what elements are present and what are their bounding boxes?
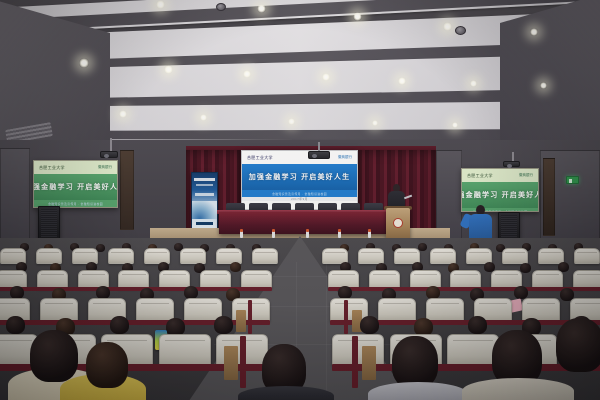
seat-armrest xyxy=(362,346,376,380)
screen-headline: 加强金融学习 开启美好人生 xyxy=(249,172,351,182)
seat[interactable] xyxy=(426,298,464,322)
exit-sign-icon xyxy=(566,176,579,184)
ceiling-light xyxy=(530,28,538,36)
ceiling-light xyxy=(452,122,458,128)
seat-armrest xyxy=(236,310,246,332)
screen-headline-band: 加强金融学习 开启美好人生 xyxy=(34,174,117,200)
screen-subtitle: 金融知识普及宣传月 · 金融知识进校园 xyxy=(48,202,103,206)
university-logo: 合肥工业大学 xyxy=(467,173,493,179)
audience-head xyxy=(360,316,379,334)
foreground-person-shoulders xyxy=(368,382,468,400)
sponsor-bank-logo: 徽商银行 xyxy=(338,155,352,160)
sponsor-bank-logo: 徽商银行 xyxy=(519,173,533,178)
screen-logo-row: 合肥工业大学 徽商银行 xyxy=(462,169,538,182)
seat[interactable] xyxy=(136,298,174,322)
floor-tile-line xyxy=(326,262,327,400)
ceiling-light xyxy=(398,77,406,85)
podium-emblem-icon xyxy=(393,218,403,228)
ceiling-light xyxy=(156,0,165,9)
wall-panel-right xyxy=(436,150,462,240)
screen-headline-band: 加强金融学习 开启美好人生 xyxy=(242,164,357,190)
ceiling-light xyxy=(372,120,378,126)
ceiling-light xyxy=(243,70,251,78)
audience-head xyxy=(110,316,129,334)
wall-panel-left xyxy=(0,148,30,248)
screen-footer-band: 2017年9月 xyxy=(242,197,357,201)
university-logo: 合肥工业大学 xyxy=(39,165,65,171)
seat[interactable] xyxy=(430,248,456,264)
projector-mount-arm-left xyxy=(110,138,112,152)
seat[interactable] xyxy=(252,248,278,264)
seat[interactable] xyxy=(108,248,134,264)
screen-headline-band: 加强金融学习 开启美好人生 xyxy=(462,182,538,208)
ceiling-speaker-dome xyxy=(216,3,226,11)
banner-line-3 xyxy=(195,193,214,196)
seat-row-frame xyxy=(328,287,600,291)
banner-line-2 xyxy=(196,184,213,186)
sponsor-bank-logo: 徽商银行 xyxy=(98,165,112,170)
banner-footer xyxy=(196,222,213,225)
seat[interactable] xyxy=(574,248,600,264)
right-side-screen: 合肥工业大学 徽商银行 加强金融学习 开启美好人生 金融知识普及宣传月 · 金融… xyxy=(461,168,539,212)
ceiling xyxy=(0,0,600,152)
screen-headline: 加强金融学习 开启美好人生 xyxy=(33,182,118,192)
screen-logo-row: 合肥工业大学 徽商银行 xyxy=(242,151,357,164)
foreground-head-yellow-shirt xyxy=(86,342,128,388)
water-bottle xyxy=(306,231,309,238)
seat[interactable] xyxy=(358,248,384,264)
ceiling-soffit-right xyxy=(500,0,600,152)
banner-graphic xyxy=(192,201,217,219)
seat[interactable] xyxy=(378,298,416,322)
seat-post xyxy=(352,336,358,388)
ceiling-light xyxy=(257,4,266,13)
foreground-head-edge-right xyxy=(556,318,600,372)
ceiling-light xyxy=(288,118,295,125)
ceiling-speaker-dome xyxy=(455,26,466,35)
seat[interactable] xyxy=(180,248,206,264)
ceiling-light xyxy=(322,73,330,81)
ceiling-light xyxy=(200,114,207,121)
ceiling-light xyxy=(79,58,89,68)
foreground-person-shoulders xyxy=(462,378,574,400)
ceiling-light xyxy=(353,12,362,21)
wall-panel-left-door xyxy=(120,150,134,230)
foreground-head-left xyxy=(30,330,78,382)
audience-head xyxy=(6,316,25,334)
seat[interactable] xyxy=(159,334,211,366)
stage-table xyxy=(219,212,387,234)
water-bottle xyxy=(368,231,371,238)
floor-speaker-left xyxy=(38,206,60,240)
ceiling-light xyxy=(540,82,547,89)
wall-door-right[interactable] xyxy=(543,158,555,236)
screen-headline: 加强金融学习 开启美好人生 xyxy=(461,190,539,200)
projector-left-icon xyxy=(100,151,118,158)
seat-armrest xyxy=(224,346,238,380)
seat[interactable] xyxy=(502,248,528,264)
seat[interactable] xyxy=(36,248,62,264)
university-logo: 合肥工业大学 xyxy=(247,155,273,161)
ceiling-light xyxy=(443,22,452,31)
seat[interactable] xyxy=(40,298,78,322)
water-bottle xyxy=(338,231,341,238)
roll-up-banner xyxy=(191,172,218,230)
water-bottle xyxy=(272,231,275,238)
main-projection-screen: 合肥工业大学 徽商银行 加强金融学习 开启美好人生 金融知识普及宣传月 · 金融… xyxy=(241,150,358,210)
seat-post xyxy=(248,300,252,334)
audience-head xyxy=(468,316,487,334)
projector-right-icon xyxy=(503,161,520,167)
screen-footer: 2017年9月 xyxy=(291,197,308,201)
left-side-screen: 合肥工业大学 徽商银行 加强金融学习 开启美好人生 金融知识普及宣传月 · 金融… xyxy=(33,160,118,208)
seat-row xyxy=(322,248,600,264)
foreground-person-shoulders xyxy=(238,386,334,400)
foreground-head-right xyxy=(392,336,438,388)
ceiling-light xyxy=(164,65,173,74)
water-bottle xyxy=(240,231,243,238)
seat-post xyxy=(344,300,348,334)
seat[interactable] xyxy=(332,334,384,366)
auditorium-photo: 合肥工业大学 徽商银行 加强金融学习 开启美好人生 金融知识普及宣传月 · 金融… xyxy=(0,0,600,400)
screen-logo-row: 合肥工业大学 徽商银行 xyxy=(34,161,117,174)
banner-line-1 xyxy=(194,178,215,181)
audience-head xyxy=(214,316,233,334)
ceiling-light xyxy=(470,80,477,87)
screen-footer: 2017年9月 xyxy=(67,207,84,208)
seat-post xyxy=(240,336,246,388)
ceiling-light xyxy=(119,110,127,118)
projector-main-icon xyxy=(308,151,330,159)
screen-subtitle: 金融知识普及宣传月 · 金融知识进校园 xyxy=(272,192,327,196)
screen-subtitle-band: 金融知识普及宣传月 · 金融知识进校园 xyxy=(242,190,357,197)
